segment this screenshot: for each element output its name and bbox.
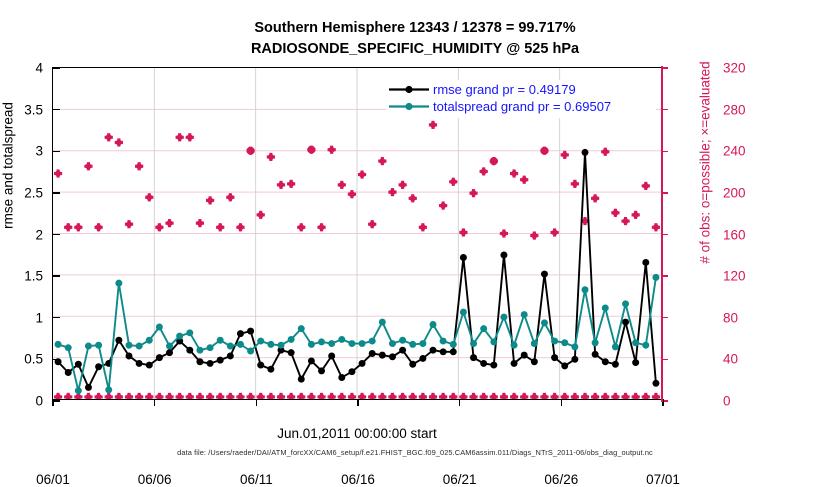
y-axis-left-tick: [53, 359, 60, 360]
y-axis-left-tick: [53, 151, 60, 152]
figure-canvas: Southern Hemisphere 12343 / 12378 = 99.7…: [0, 0, 830, 470]
x-axis-tick-label: 06/06: [120, 472, 190, 487]
y-axis-right-tick-label: 120: [723, 269, 769, 284]
y-axis-left-tick: [53, 275, 60, 276]
legend-label-totalspread: totalspread grand pr = 0.69507: [433, 98, 611, 115]
legend-label-rmse: rmse grand pr = 0.49179: [433, 81, 576, 98]
x-axis-tick: [154, 399, 155, 406]
y-axis-right-tick-label: 0: [723, 394, 769, 409]
y-axis-left-tick: [53, 109, 60, 110]
legend-item-totalspread[interactable]: totalspread grand pr = 0.69507: [387, 98, 655, 115]
y-axis-right-tick-label: 80: [723, 310, 769, 325]
legend-marker-rmse: [387, 81, 431, 98]
x-axis-tick-label: 06/26: [526, 472, 596, 487]
y-axis-left-tick: [53, 67, 60, 68]
x-axis-tick: [256, 399, 257, 406]
x-axis-tick-label: 06/16: [323, 472, 393, 487]
y-axis-left-tick: [53, 317, 60, 318]
x-axis-tick-label: 06/01: [18, 472, 88, 487]
legend-item-rmse[interactable]: rmse grand pr = 0.49179: [387, 81, 655, 98]
y-axis-right-tick-label: 320: [723, 61, 769, 76]
y-axis-left-tick: [53, 400, 60, 401]
y-axis-left-tick: [53, 234, 60, 235]
x-axis-tick: [52, 399, 53, 406]
x-axis-tick: [357, 399, 358, 406]
x-axis-tick: [459, 399, 460, 406]
y-axis-right-spine: [661, 66, 663, 402]
y-axis-left-tick: [53, 192, 60, 193]
y-axis-left-label: rmse and totalspread: [1, 0, 16, 366]
x-axis-tick: [561, 399, 562, 406]
x-axis-tick-label: 07/01: [628, 472, 698, 487]
y-axis-left-tick-label: 0: [3, 394, 43, 409]
y-axis-right-tick-label: 40: [723, 352, 769, 367]
y-axis-right-tick-label: 240: [723, 144, 769, 159]
y-axis-right-tick-label: 200: [723, 185, 769, 200]
x-axis-label: Jun.01,2011 00:00:00 start: [52, 426, 662, 441]
x-axis-tick-label: 06/21: [425, 472, 495, 487]
data-file-footer: data file: /Users/raeder/DAI/ATM_forcXX/…: [0, 448, 830, 457]
y-axis-right-tick-label: 160: [723, 227, 769, 242]
legend-marker-totalspread: [387, 98, 431, 115]
y-axis-right-label: # of obs: o=possible; ×=evaluated: [698, 0, 713, 363]
legend: rmse grand pr = 0.49179 totalspread gran…: [386, 80, 656, 118]
x-axis-tick-label: 06/11: [221, 472, 291, 487]
y-axis-right-tick-label: 280: [723, 102, 769, 117]
